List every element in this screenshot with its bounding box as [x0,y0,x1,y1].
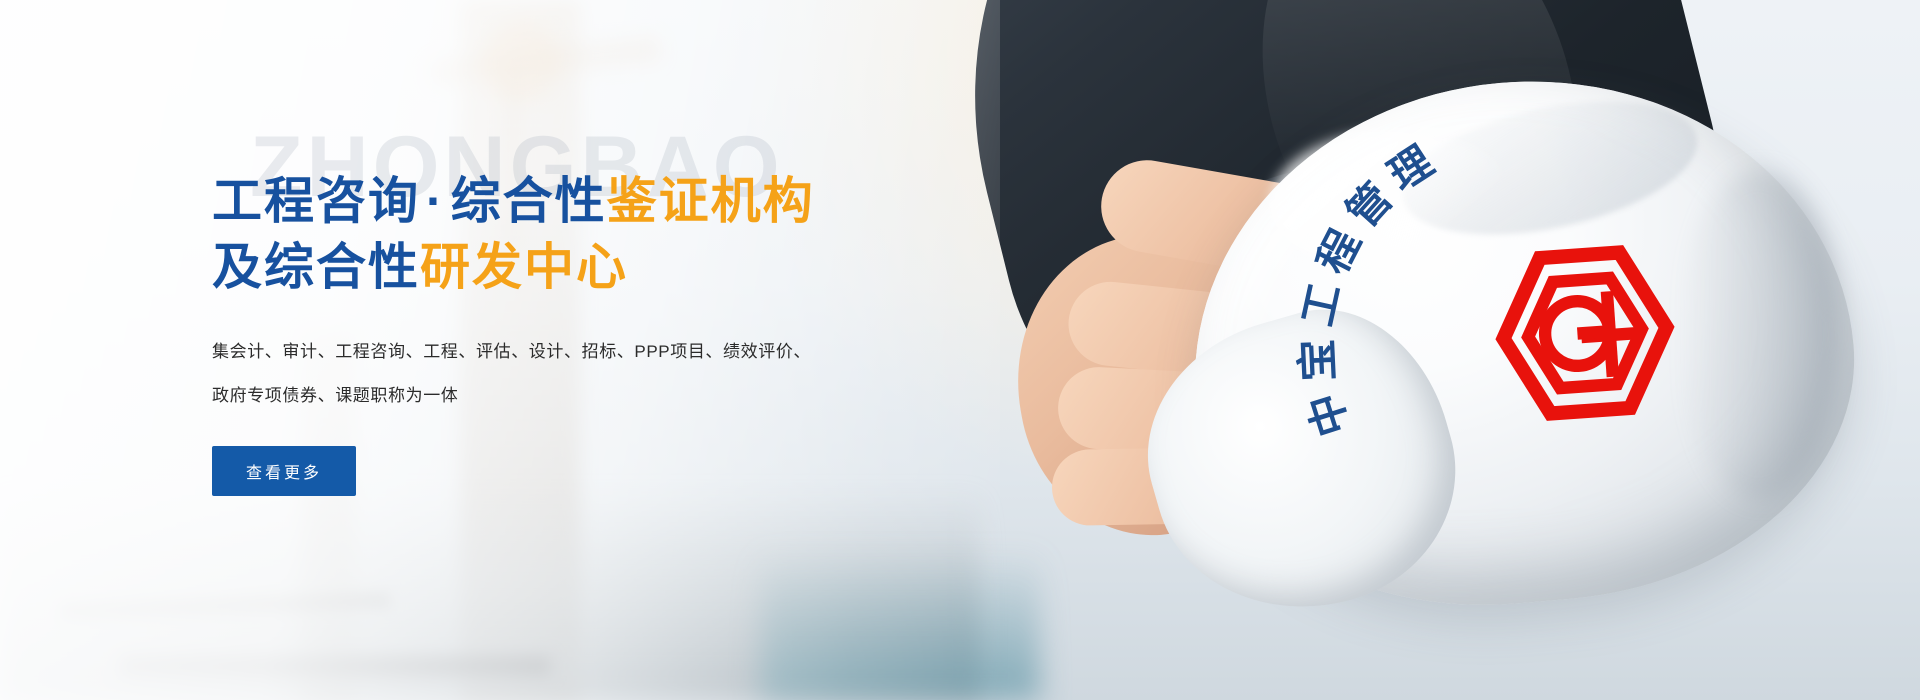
headline-l2-part2: 研发中心 [420,239,628,295]
headline: 工程咨询·综合性鉴证机构 及综合性研发中心 [212,168,932,300]
headline-l1-part3: 鉴证机构 [607,173,815,229]
headline-line-2: 及综合性研发中心 [212,234,932,300]
subtitle: 集会计、审计、工程咨询、工程、评估、设计、招标、PPP项目、绩效评价、 政府专项… [212,330,812,418]
subtitle-line-1: 集会计、审计、工程咨询、工程、评估、设计、招标、PPP项目、绩效评价、 [212,330,812,374]
view-more-button[interactable]: 查看更多 [212,446,356,496]
subtitle-line-2: 政府专项债券、课题职称为一体 [212,374,812,418]
headline-l2-part1: 及综合性 [212,239,420,295]
hero-content: ZHONGBAO 工程咨询·综合性鉴证机构 及综合性研发中心 集会计、审计、工程… [212,118,932,496]
zhongbao-hexagon-logo-icon [1484,232,1687,435]
headline-line-1: 工程咨询·综合性鉴证机构 [212,168,932,234]
hero-banner: 中宝工程管理 ZHONGBAO [0,0,1920,700]
headline-l1-part1: 工程咨询 [212,173,420,229]
headline-l1-part2: 综合性 [451,173,607,229]
headline-separator-dot: · [420,173,451,229]
